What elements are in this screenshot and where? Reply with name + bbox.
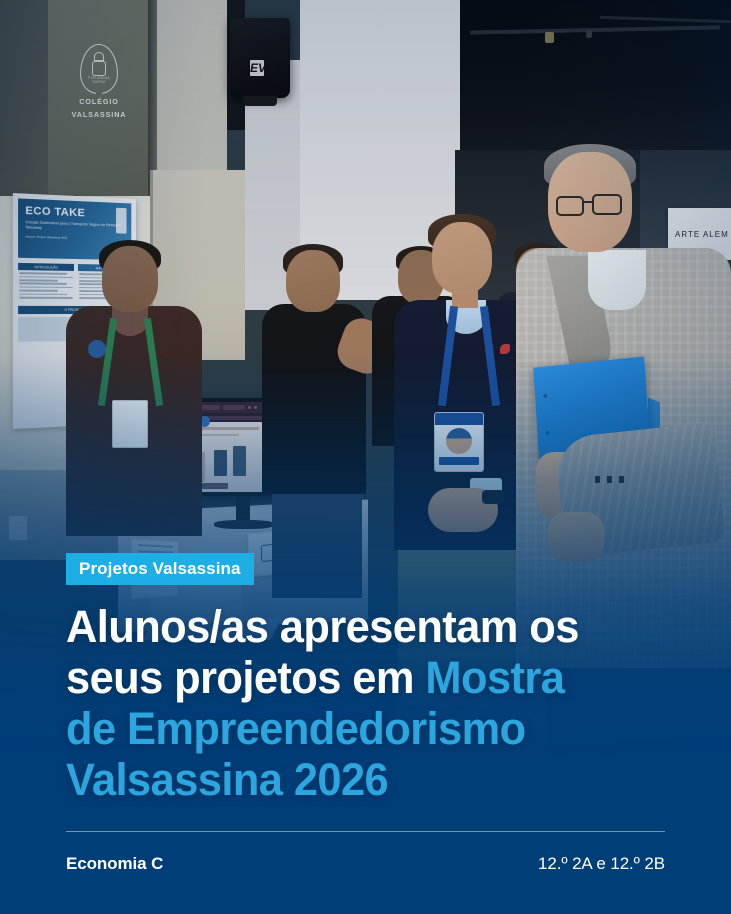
wristwatch bbox=[482, 490, 504, 504]
poster-title: ECO TAKE bbox=[25, 205, 124, 221]
classes-label: 12.º 2A e 12.º 2B bbox=[538, 854, 665, 874]
logo-subtitle: VALSASSINA bbox=[68, 111, 130, 120]
logo-figure-body bbox=[92, 61, 106, 76]
id-badge bbox=[434, 412, 484, 472]
headline-line-2: seus projetos em bbox=[66, 652, 425, 703]
chart-axis bbox=[202, 452, 205, 482]
promo-poster: EV POR ARDUA SURGO COLÉGIO VALSASSINA EC… bbox=[0, 0, 731, 914]
speaker-brand-logo: EV bbox=[250, 60, 264, 76]
monitor-stand bbox=[236, 496, 250, 522]
speaker-bracket bbox=[243, 96, 277, 106]
wall-sign-text: ARTE ALEM bbox=[675, 230, 729, 239]
footer-row: Economia C 12.º 2A e 12.º 2B bbox=[66, 854, 665, 874]
headline-highlight-3: Valsassina 2026 bbox=[66, 754, 388, 805]
id-badge bbox=[112, 400, 148, 448]
logo-motto: POR ARDUA SURGO bbox=[87, 76, 111, 89]
headline-highlight-1: Mostra bbox=[425, 652, 564, 703]
screen-footer-block bbox=[202, 483, 228, 489]
poster-subtitle: Solução Sustentável para o Transporte Se… bbox=[25, 220, 124, 233]
eyeglasses-icon bbox=[556, 196, 584, 216]
colegio-valsassina-logo: POR ARDUA SURGO COLÉGIO VALSASSINA bbox=[68, 44, 130, 122]
pa-speaker: EV bbox=[230, 18, 290, 98]
logo-title: COLÉGIO bbox=[68, 98, 130, 107]
logo-shield-icon: POR ARDUA SURGO bbox=[80, 44, 118, 94]
track-light-icon bbox=[545, 32, 554, 43]
badge-name-bar bbox=[439, 457, 479, 465]
eyeglasses-icon bbox=[592, 194, 622, 215]
logo-notch bbox=[96, 89, 102, 95]
badge-photo bbox=[446, 428, 472, 454]
headline-line-1: Alunos/as apresentam os bbox=[66, 601, 579, 652]
divider bbox=[66, 831, 665, 832]
poster-column: INTRODUÇÃO bbox=[18, 263, 74, 302]
sweater-logo-icon bbox=[500, 344, 510, 354]
track-light-icon-2 bbox=[586, 30, 592, 38]
poster-text-block bbox=[18, 270, 74, 302]
sleeve-buttons bbox=[595, 476, 629, 483]
ceiling-area bbox=[455, 0, 731, 150]
polo-emblem-icon bbox=[88, 340, 106, 358]
headline-highlight-2: de Empreendedorismo bbox=[66, 703, 526, 754]
category-badge: Projetos Valsassina bbox=[66, 553, 254, 585]
power-outlet-icon bbox=[8, 515, 28, 541]
poster-header-badge bbox=[116, 208, 127, 234]
subject-label: Economia C bbox=[66, 854, 163, 874]
poster-text-block: Projetos Valsassina Alunos/as apresentam… bbox=[0, 553, 731, 914]
monitor-base bbox=[214, 520, 274, 529]
logo-figure-head bbox=[94, 52, 104, 61]
poster-authors: Autores: Projeto Valsassina 2026 bbox=[25, 234, 124, 241]
eyeglasses-bridge bbox=[583, 201, 594, 203]
page-title: Alunos/as apresentam os seus projetos em… bbox=[66, 601, 644, 805]
